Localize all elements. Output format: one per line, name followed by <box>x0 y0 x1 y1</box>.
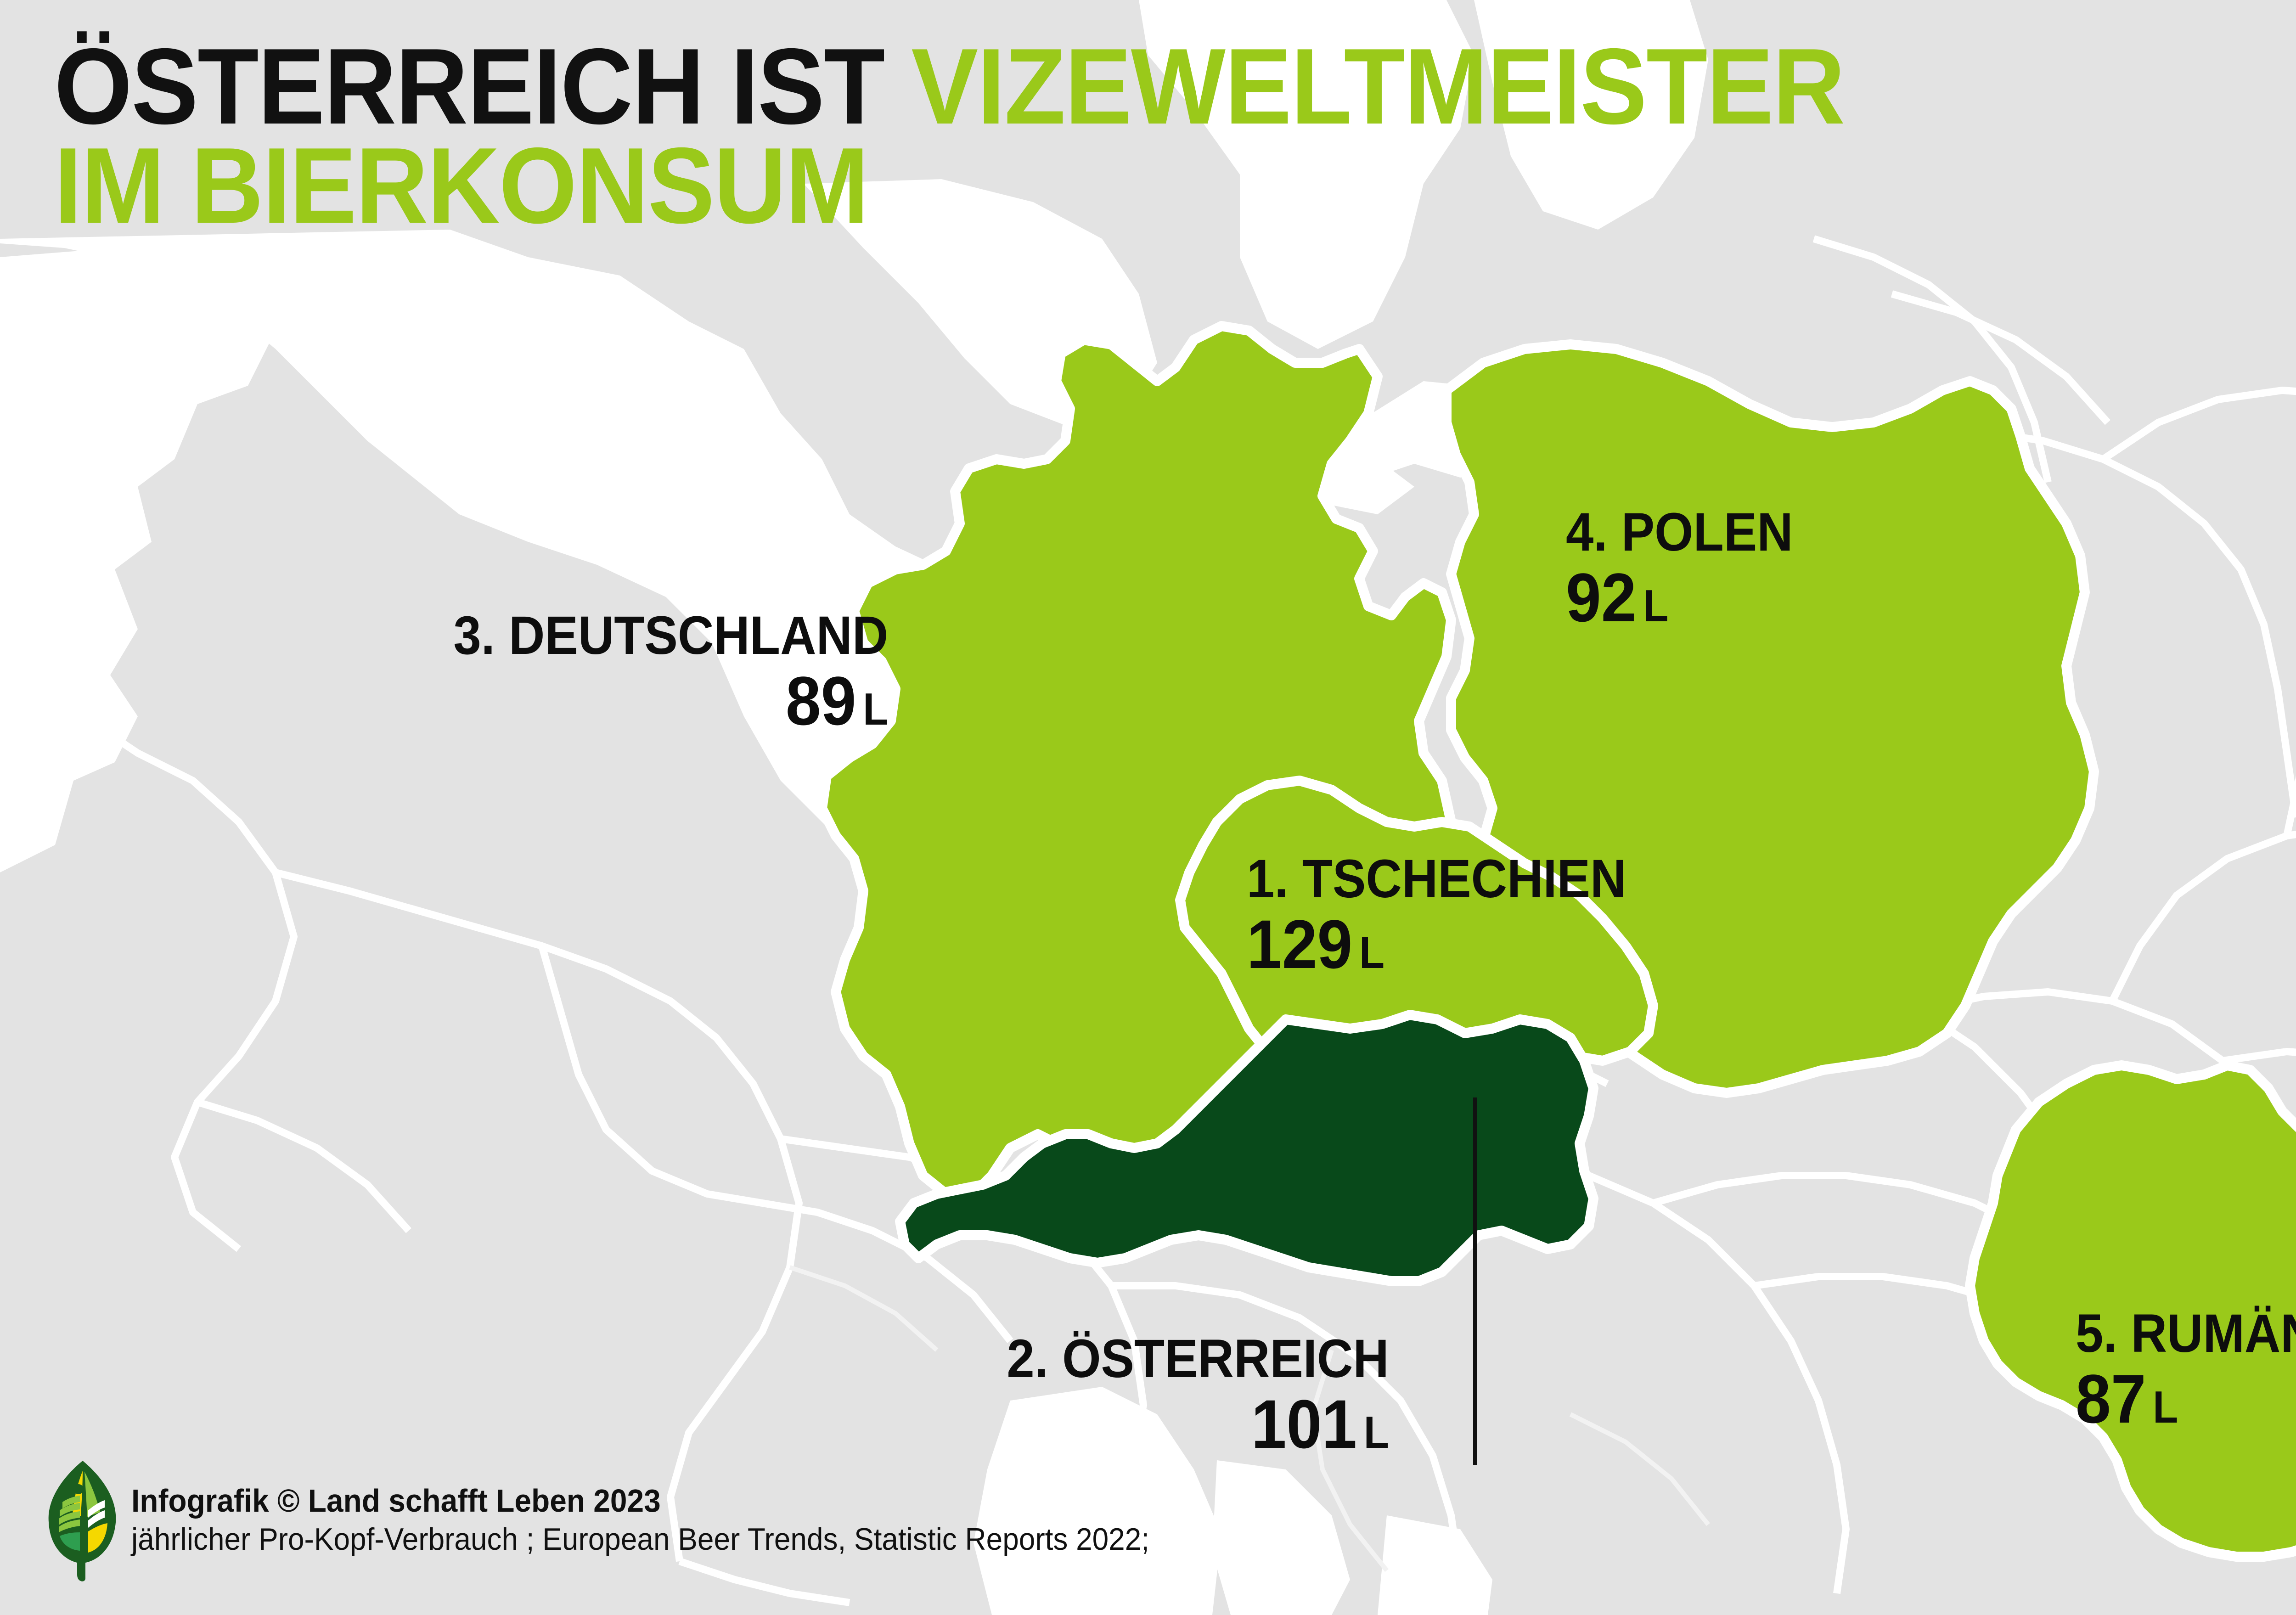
title-line-1: ÖSTERREICH IST VIZEWELTMEISTER <box>54 37 1844 136</box>
country-label-value: 89L <box>453 666 888 735</box>
country-label-polen: 4. POLEN 92L <box>1566 505 1813 632</box>
country-label-unit: L <box>863 684 888 734</box>
country-label-name: 1. TSCHECHIEN <box>1247 852 1626 906</box>
country-label-value: 101L <box>1007 1390 1389 1458</box>
country-label-unit: L <box>1359 927 1384 978</box>
country-label-value: 92L <box>1566 563 1793 632</box>
country-label-name: 5. RUMÄNIEN <box>2076 1306 2296 1361</box>
country-label-oesterreich: 2. ÖSTERREICH 101L <box>974 1332 1389 1458</box>
infographic-canvas: .land { fill:#e3e3e3; } .water { fill:#f… <box>0 0 2296 1615</box>
country-label-name: 2. ÖSTERREICH <box>1007 1332 1389 1386</box>
country-label-name: 4. POLEN <box>1566 505 1793 559</box>
footer-credits: Infografik © Land schafft Leben 2023 jäh… <box>46 1458 1215 1582</box>
country-label-unit: L <box>1364 1407 1389 1457</box>
country-label-value: 87L <box>2076 1364 2296 1433</box>
leader-line-oesterreich <box>1473 1097 1477 1465</box>
country-label-deutschland: 3. DEUTSCHLAND 89L <box>416 608 888 735</box>
country-label-rumaenien: 5. RUMÄNIEN 87L <box>2076 1306 2296 1433</box>
footer-text-block: Infografik © Land schafft Leben 2023 jäh… <box>131 1481 1215 1559</box>
footer-copyright: Infografik © Land schafft Leben 2023 <box>131 1481 1149 1520</box>
page-title: ÖSTERREICH IST VIZEWELTMEISTER IM BIERKO… <box>54 37 1979 235</box>
country-label-unit: L <box>1643 580 1668 631</box>
land-schafft-leben-leaf-logo <box>46 1458 119 1582</box>
title-line-2: IM BIERKONSUM <box>54 136 1844 235</box>
country-label-value: 129L <box>1247 910 1626 979</box>
title-part-green: VIZEWELTMEISTER <box>911 26 1844 146</box>
footer-source: jährlicher Pro-Kopf-Verbrauch ; European… <box>131 1520 1149 1559</box>
country-label-unit: L <box>2153 1382 2178 1432</box>
country-label-tschechien: 1. TSCHECHIEN 129L <box>1247 852 1659 979</box>
country-label-name: 3. DEUTSCHLAND <box>453 608 888 663</box>
